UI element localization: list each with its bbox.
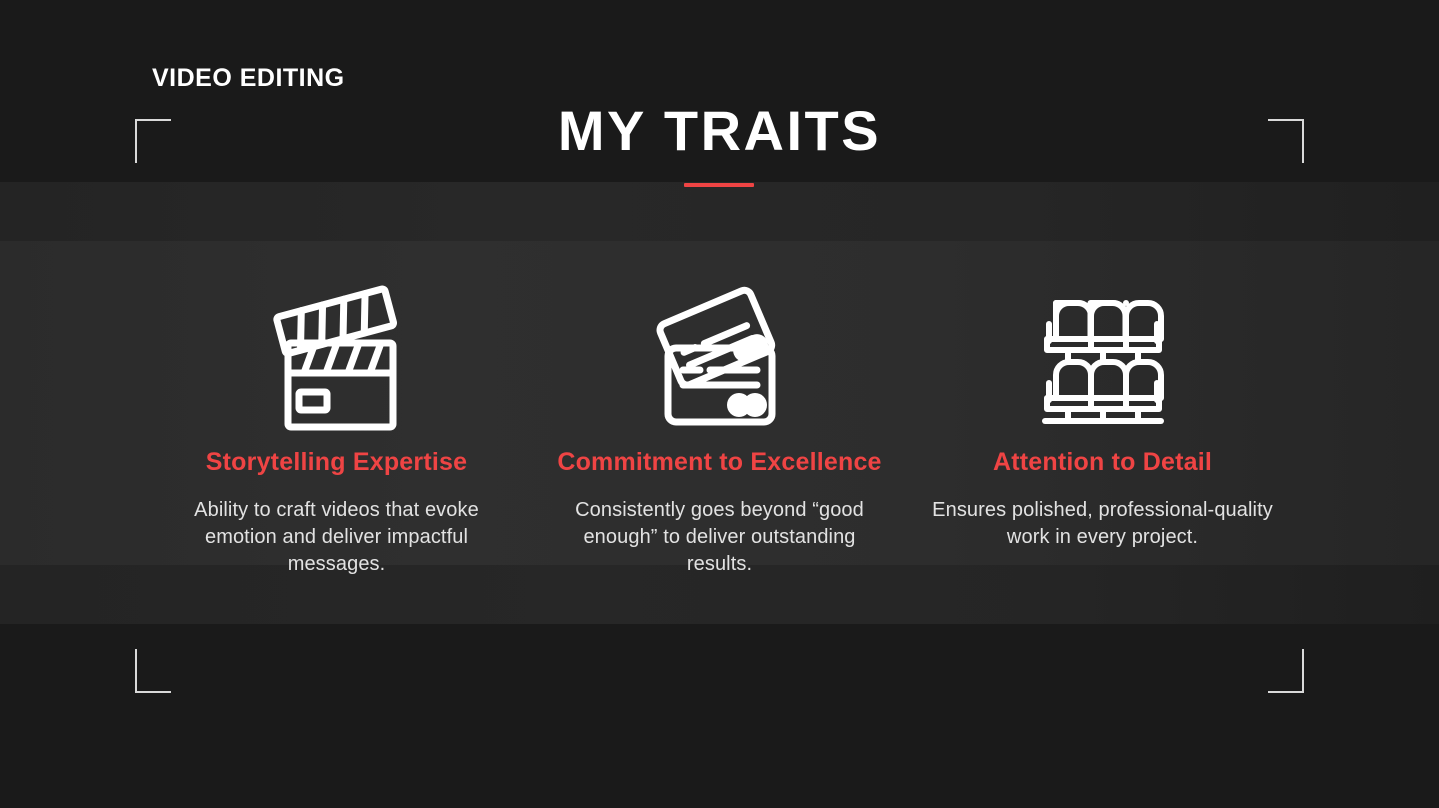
slide-canvas: VIDEO EDITING MY TRAITS (0, 0, 1439, 808)
background-band-bottom (0, 624, 1439, 808)
trait-card: Commitment to Excellence Consistently go… (528, 270, 911, 578)
title-accent-rule (684, 183, 754, 187)
background-band-upper-mid (0, 182, 1439, 241)
trait-card-title: Attention to Detail (923, 447, 1282, 477)
corner-bracket-bottom-right-icon (1268, 649, 1304, 693)
section-eyebrow: VIDEO EDITING (152, 66, 345, 91)
trait-card-body: Ability to craft videos that evoke emoti… (157, 497, 516, 578)
corner-bracket-bottom-left-icon (135, 649, 171, 693)
traits-card-list: Storytelling Expertise Ability to craft … (0, 270, 1439, 578)
trait-card: Attention to Detail Ensures polished, pr… (911, 270, 1294, 551)
clapperboard-icon (157, 270, 516, 445)
trait-card-body: Ensures polished, professional-quality w… (923, 497, 1282, 551)
trait-card-title: Commitment to Excellence (540, 447, 899, 477)
trait-card: Storytelling Expertise Ability to craft … (145, 270, 528, 578)
cards-stack-icon (540, 270, 899, 445)
cinema-seats-icon (923, 270, 1282, 445)
trait-card-body: Consistently goes beyond “good enough” t… (540, 497, 899, 578)
page-title: MY TRAITS (0, 99, 1439, 163)
trait-card-title: Storytelling Expertise (157, 447, 516, 477)
